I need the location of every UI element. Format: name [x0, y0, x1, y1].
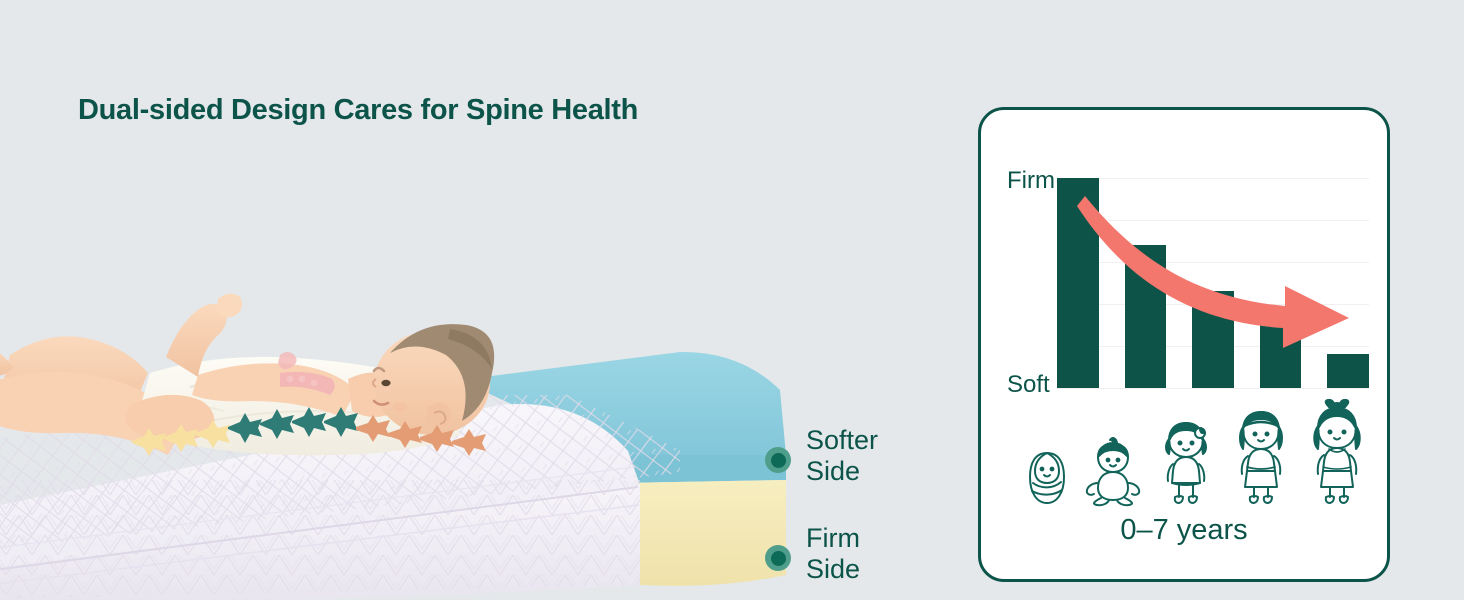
- bar-infant: [1125, 245, 1167, 388]
- page-title: Dual-sided Design Cares for Spine Health: [78, 94, 638, 127]
- firm-foam-edge: [620, 480, 786, 586]
- growth-stage-icons: [1027, 402, 1367, 507]
- chart-caption: 0–7 years: [981, 514, 1387, 547]
- firmness-chart-card: Firm Soft: [978, 107, 1390, 582]
- swaddled-newborn-icon: [1027, 449, 1067, 507]
- y-axis-label-soft: Soft: [1007, 372, 1050, 398]
- toddler-girl-icon: [1158, 419, 1214, 507]
- mattress-illustration: [0, 255, 810, 600]
- young-girl-icon: [1232, 409, 1290, 507]
- gridline: [1057, 388, 1369, 389]
- firm-side-label: Firm Side: [806, 523, 860, 585]
- chart-area: Firm Soft: [981, 110, 1387, 579]
- firm-side-dot: [765, 545, 791, 571]
- bar-plot: [1057, 178, 1369, 388]
- bar-toddler: [1192, 291, 1234, 388]
- bar-newborn: [1057, 178, 1099, 388]
- bar-child: [1327, 354, 1369, 388]
- softer-side-label: Softer Side: [806, 425, 878, 487]
- sitting-baby-icon: [1085, 435, 1141, 507]
- older-girl-icon: [1307, 399, 1367, 507]
- softer-side-dot: [765, 447, 791, 473]
- bar-series: [1057, 178, 1369, 388]
- bar-preschooler: [1260, 323, 1302, 388]
- y-axis-label-firm: Firm: [1007, 168, 1055, 194]
